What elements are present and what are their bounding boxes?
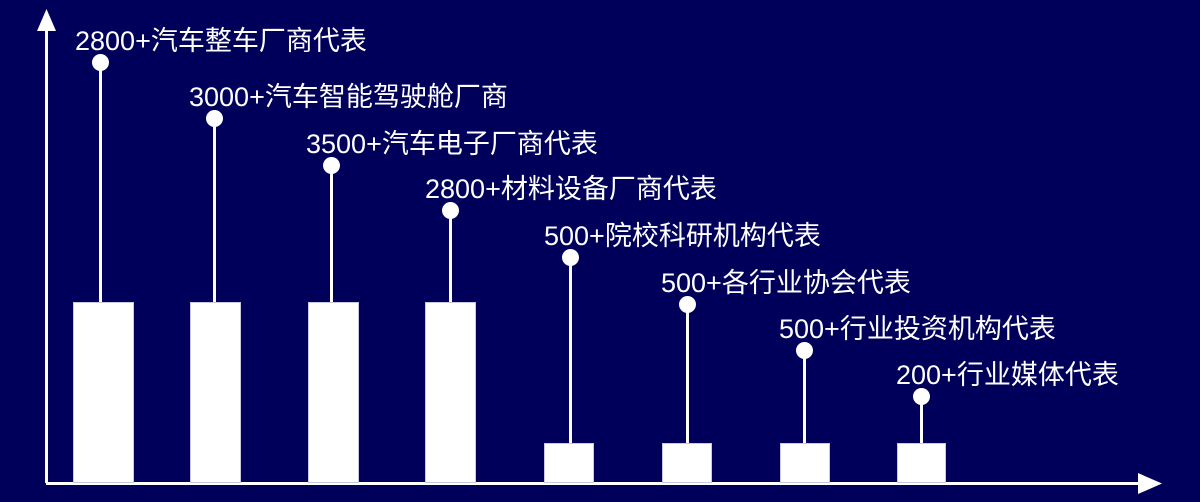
callout-leader-line	[99, 70, 102, 302]
bar	[73, 302, 134, 483]
chart-canvas: 2800+汽车整车厂商代表3000+汽车智能驾驶舱厂商3500+汽车电子厂商代表…	[0, 0, 1200, 502]
bar	[425, 302, 476, 483]
callout-leader-line	[803, 358, 806, 443]
bar	[544, 443, 594, 483]
callout-label: 500+行业投资机构代表	[779, 313, 1056, 345]
callout-label: 2800+汽车整车厂商代表	[75, 25, 367, 57]
callout-label: 3000+汽车智能驾驶舱厂商	[189, 81, 508, 113]
bar	[662, 443, 712, 483]
callout-label: 2800+材料设备厂商代表	[425, 173, 717, 205]
callout-label: 500+院校科研机构代表	[544, 220, 821, 252]
x-axis-arrowhead	[1138, 473, 1162, 494]
bar	[308, 302, 359, 483]
callout-leader-line	[330, 173, 333, 302]
callout-label: 500+各行业协会代表	[661, 267, 911, 299]
callout-leader-line	[686, 312, 689, 443]
callout-label: 200+行业媒体代表	[896, 359, 1119, 391]
bar	[190, 302, 241, 483]
callout-leader-line	[213, 126, 216, 302]
bar	[897, 443, 946, 483]
callout-leader-line	[449, 218, 452, 302]
callout-leader-line	[920, 404, 923, 443]
bar	[780, 443, 830, 483]
y-axis-arrowhead	[37, 9, 56, 31]
callout-leader-line	[569, 265, 572, 443]
callout-label: 3500+汽车电子厂商代表	[306, 128, 598, 160]
